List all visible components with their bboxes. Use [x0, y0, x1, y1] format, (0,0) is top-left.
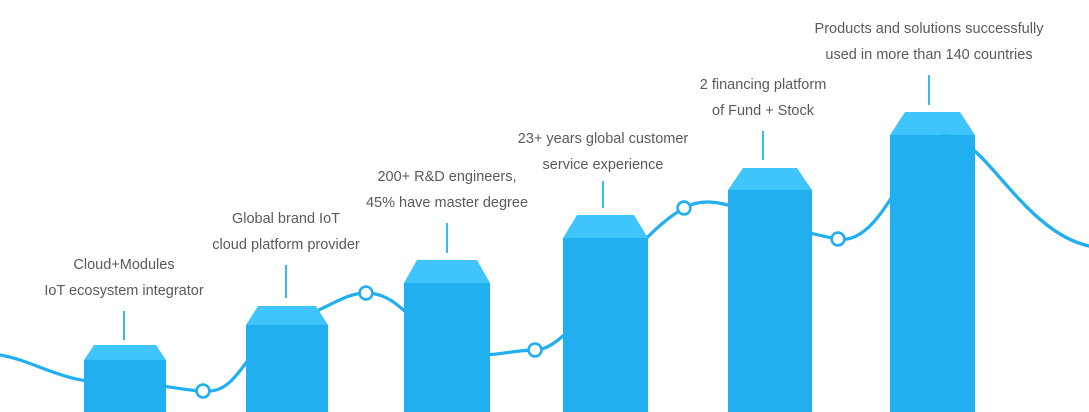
curve-marker [360, 287, 373, 300]
caption-line-2: 45% have master degree [366, 190, 528, 216]
milestone-caption-text-2: Global brand IoTcloud platform provider [212, 206, 360, 258]
bar-1 [84, 345, 166, 412]
bar-top-face [246, 306, 328, 325]
bar-4 [563, 215, 648, 412]
bar-6 [890, 112, 975, 412]
caption-line-1: 2 financing platform [700, 72, 827, 98]
milestone-caption-text-3: 200+ R&D engineers,45% have master degre… [366, 164, 528, 216]
bar-front-face [84, 360, 166, 412]
bar-top-face [728, 168, 812, 190]
milestone-caption-text-1: Cloud+ModulesIoT ecosystem integrator [44, 252, 203, 304]
caption-line-2: IoT ecosystem integrator [44, 278, 203, 304]
bar-top-face [404, 260, 490, 283]
bar-3 [404, 260, 490, 412]
bar-front-face [246, 325, 328, 412]
bar-front-face [404, 283, 490, 412]
caption-line-1: Products and solutions successfully [815, 16, 1044, 42]
caption-line-1: Global brand IoT [212, 206, 360, 232]
caption-line-1: 200+ R&D engineers, [366, 164, 528, 190]
curve-marker [832, 233, 845, 246]
milestone-caption-text-5: 2 financing platformof Fund + Stock [700, 72, 827, 124]
bar-front-face [728, 190, 812, 412]
bar-5 [728, 168, 812, 412]
bar-front-face [563, 238, 648, 412]
curve-marker [529, 344, 542, 357]
bar-front-face [890, 135, 975, 412]
caption-line-1: Cloud+Modules [44, 252, 203, 278]
bar-2 [246, 306, 328, 412]
bar-top-face [890, 112, 975, 135]
milestone-caption-text-6: Products and solutions successfullyused … [815, 16, 1044, 68]
caption-line-2: cloud platform provider [212, 232, 360, 258]
caption-line-2: used in more than 140 countries [815, 42, 1044, 68]
bar-top-face [563, 215, 648, 238]
caption-line-1: 23+ years global customer [518, 126, 688, 152]
bar-top-face [84, 345, 166, 360]
curve-marker [678, 202, 691, 215]
caption-line-2: of Fund + Stock [700, 98, 827, 124]
curve-marker [197, 385, 210, 398]
milestone-caption-text-4: 23+ years global customerservice experie… [518, 126, 688, 178]
growth-infographic: Cloud+ModulesIoT ecosystem integratorGlo… [0, 0, 1089, 412]
caption-line-2: service experience [518, 152, 688, 178]
